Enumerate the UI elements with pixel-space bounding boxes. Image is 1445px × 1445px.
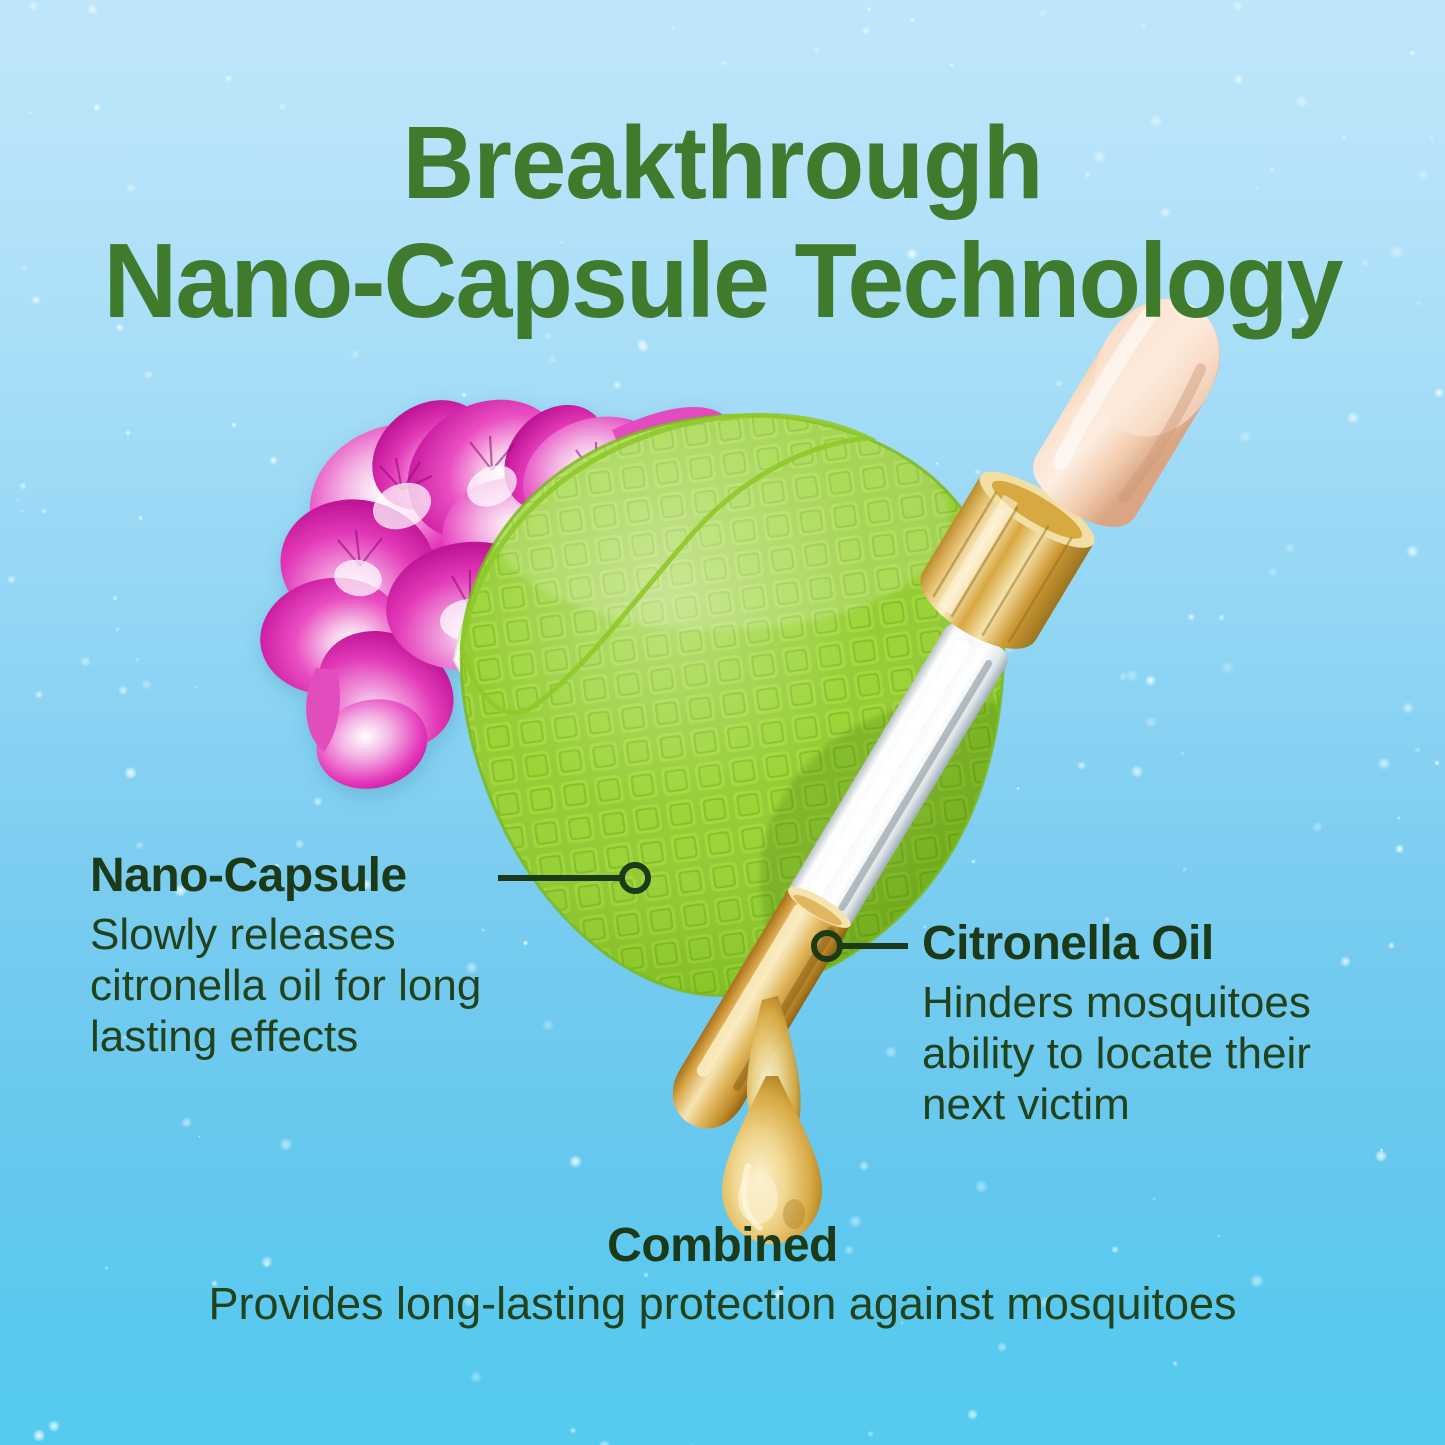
infographic-canvas: Breakthrough Nano-Capsule Technology Nan… (0, 0, 1445, 1445)
callout-body-nano-capsule: Slowly releases citronella oil for long … (90, 909, 560, 1062)
callout-nano-capsule: Nano-Capsule Slowly releases citronella … (90, 852, 560, 1062)
callout-body-citronella-oil: Hinders mosquitoes ability to locate the… (922, 977, 1392, 1130)
callout-citronella-oil: Citronella Oil Hinders mosquitoes abilit… (922, 920, 1392, 1130)
title-line-1: Breakthrough (402, 105, 1042, 220)
callout-combined: Combined Provides long-lasting protectio… (0, 1222, 1445, 1330)
title-line-2: Nano-Capsule Technology (25, 221, 1419, 342)
callout-heading-citronella-oil: Citronella Oil (922, 920, 1392, 968)
callout-body-combined: Provides long-lasting protection against… (0, 1278, 1445, 1330)
page-title: Breakthrough Nano-Capsule Technology (25, 104, 1419, 342)
callout-heading-combined: Combined (0, 1222, 1445, 1270)
callout-heading-nano-capsule: Nano-Capsule (90, 852, 560, 900)
